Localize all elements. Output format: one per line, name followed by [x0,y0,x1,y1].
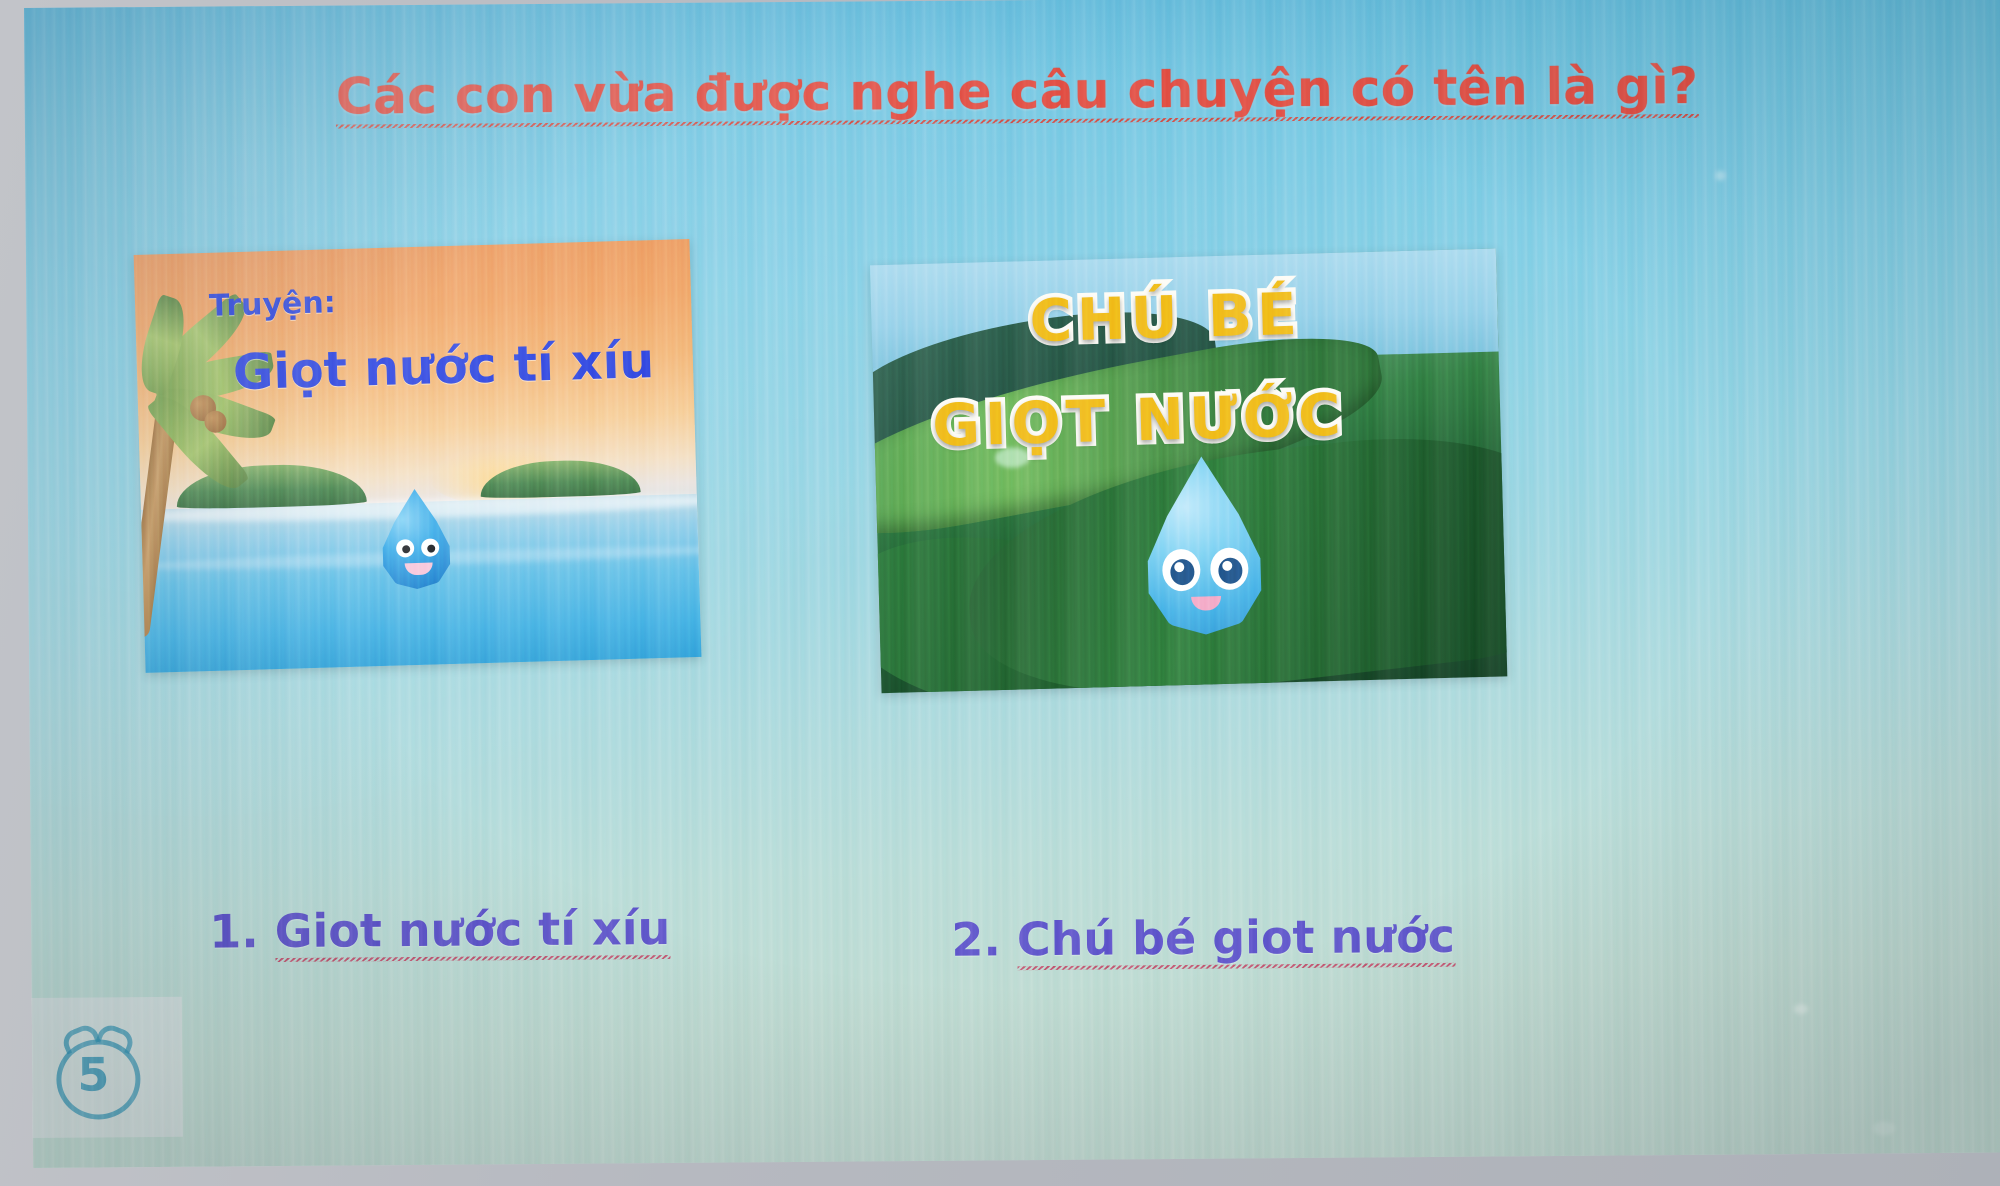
card-2-label-line2: GIỌT NƯỚC [931,381,1346,460]
dust-spot [1715,171,1725,181]
card-1-label-line1: Truyện: [209,285,337,324]
water-droplet-character [1137,455,1270,636]
dust-spot [1873,1121,1895,1135]
slide-surface: Các con vừa được nghe câu chuyện có tên … [24,0,2000,1168]
story-card-1[interactable]: Truyện: Giọt nước tí xíu [134,239,702,673]
dust-spot [1794,1004,1808,1014]
card-2-label-line1: CHÚ BÉ [1029,280,1303,355]
photographed-slide: Các con vừa được nghe câu chuyện có tên … [0,0,2000,1186]
story-card-2[interactable]: CHÚ BÉ GIỌT NƯỚC [870,248,1507,693]
answer-option-1[interactable]: 1. Giot nước tí xíu [209,901,670,959]
timer-value: 5 [46,1039,141,1110]
answer-2-text: Chú bé giot nước [1017,909,1456,970]
timer-badge[interactable]: 5 [46,1019,143,1116]
card-1-label-line2: Giọt nước tí xíu [232,332,655,401]
answer-1-text: Giot nước tí xíu [275,901,671,962]
page-title-text: Các con vừa được nghe câu chuyện có tên … [336,57,1699,129]
page-title: Các con vừa được nghe câu chuyện có tên … [24,54,2000,128]
answer-option-2[interactable]: 2. Chú bé giot nước [951,909,1455,967]
water-droplet-character [376,488,455,590]
answer-1-number: 1. [209,904,259,958]
answer-2-number: 2. [951,912,1001,966]
